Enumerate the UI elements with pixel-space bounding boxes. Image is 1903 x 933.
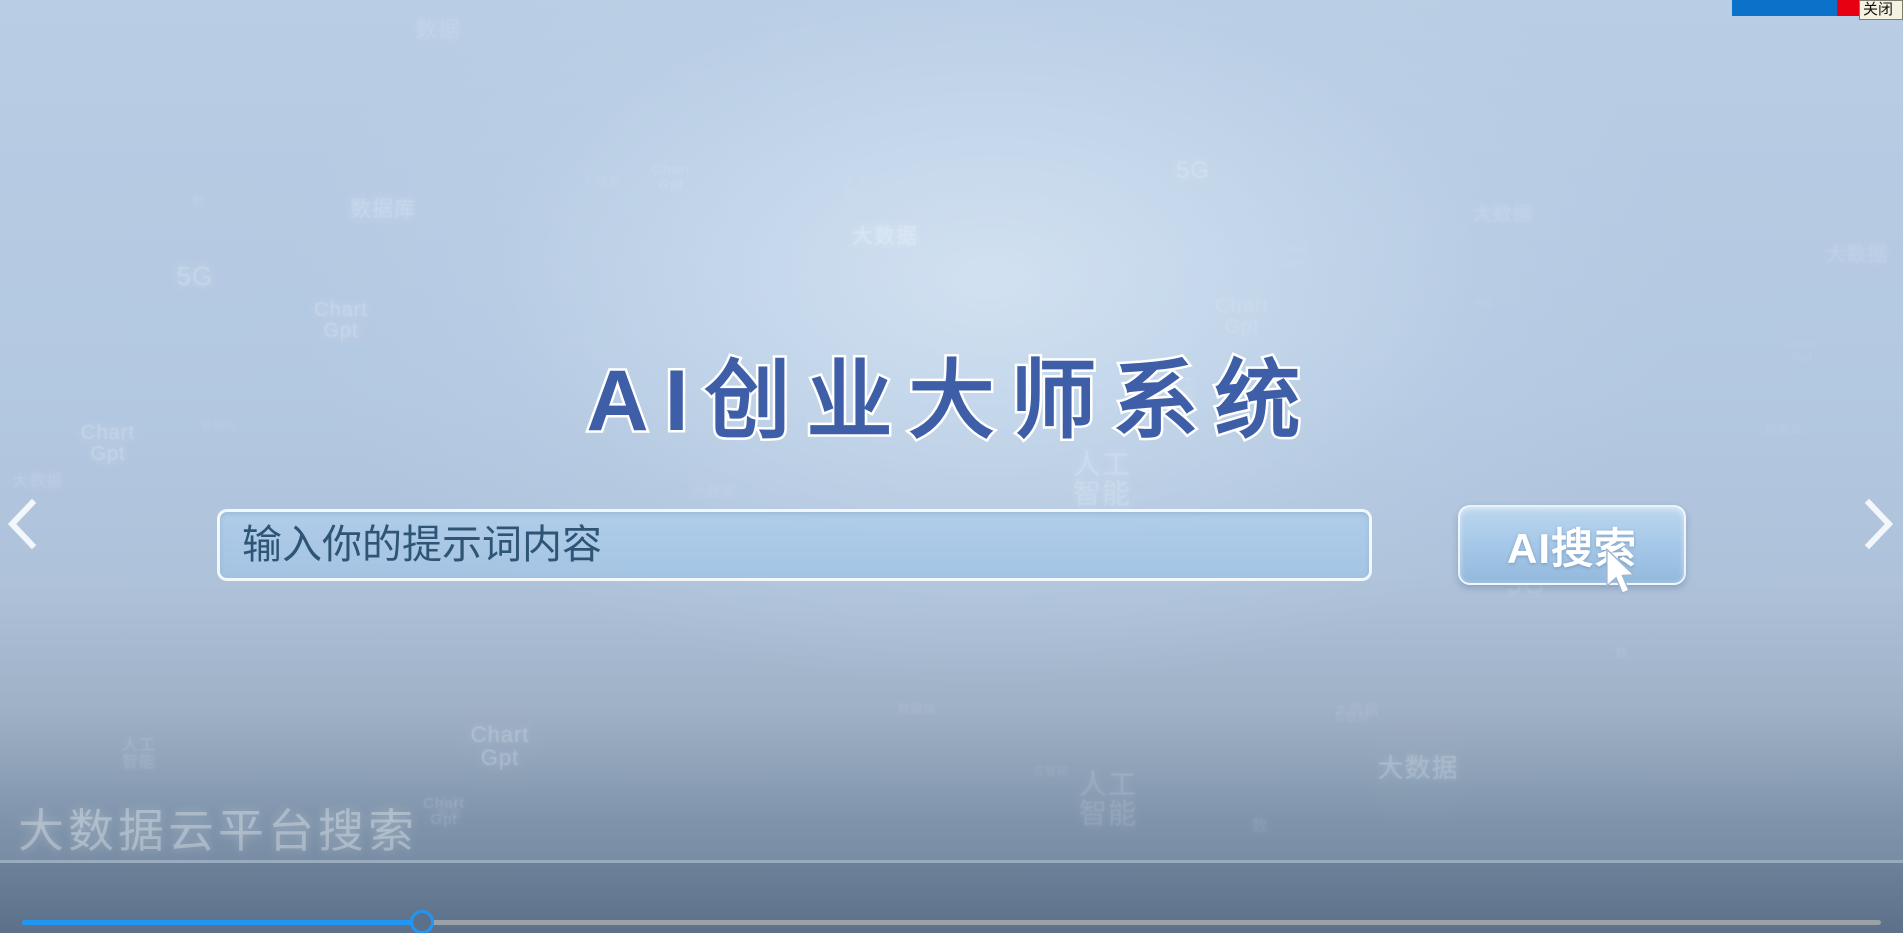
hex-badge: 数: [176, 180, 222, 224]
app-root: 数据库大数据ChartGpt人工智能大数据5G大数据数5GChartGpt5GC…: [0, 0, 1903, 933]
hex-badge-label: 人工: [844, 175, 870, 188]
hex-badge: 互联网: [1020, 744, 1082, 802]
hex-badge-label: 互联网: [1334, 713, 1370, 725]
hex-badge: 5G: [1190, 212, 1242, 262]
ai-search-button[interactable]: AI搜索: [1458, 505, 1686, 585]
hex-badge: 数据库: [318, 150, 448, 270]
hex-badge: 人工智能: [1046, 740, 1170, 858]
hex-badge-label: 大数据: [1826, 245, 1889, 266]
hex-badge: 大数据: [1320, 674, 1394, 744]
hex-badge: 数: [1598, 630, 1646, 676]
hex-badge-label: 大数据: [852, 226, 918, 248]
topbar-widgets: 关闭: [1732, 0, 1903, 20]
hex-badge-label: 人工: [438, 797, 462, 809]
hex-badge: 人工智能: [100, 718, 178, 792]
hex-badge: 大数据: [1455, 170, 1551, 260]
hex-badge-label: 人工: [122, 738, 156, 755]
hex-badge-label: 互联网: [1033, 767, 1069, 779]
hex-badge-label: 智能: [1079, 799, 1137, 828]
red-accent-square[interactable]: [1837, 0, 1859, 16]
hex-badge-label: 大数据: [12, 474, 63, 491]
hex-badge: 人工智能: [826, 158, 888, 218]
hex-badge: 大数据: [1812, 212, 1902, 298]
hex-badge-label: 大数据: [1335, 702, 1380, 717]
hex-badge-label: 大数据: [1377, 755, 1458, 782]
hex-badge-label: 数据库: [897, 703, 936, 716]
hex-badge-label: Gpt: [430, 812, 457, 828]
hex-badge-label: Chart: [471, 723, 530, 746]
hex-badge-label: 数据: [415, 18, 461, 41]
hex-badge-label: Gpt: [658, 177, 684, 192]
hex-badge-label: 数: [1251, 819, 1268, 836]
hex-badge: ChatGpt: [1264, 228, 1322, 284]
hex-badge: 互联网: [1324, 692, 1380, 746]
hex-badge-label: 智能: [1073, 479, 1131, 508]
hex-badge-label: 5G: [1206, 230, 1225, 244]
background-hex-decorations: 数据库大数据ChartGpt人工智能大数据5G大数据数5GChartGpt5GC…: [0, 0, 1903, 933]
carousel-next-icon[interactable]: [1855, 495, 1899, 553]
hex-badge-label: 数: [192, 195, 206, 209]
prompt-input[interactable]: [217, 509, 1372, 581]
hex-badge-label: 人工: [1079, 770, 1137, 799]
hex-badge: 大数据: [830, 186, 940, 288]
hex-badge: ChartGpt: [408, 778, 480, 846]
hex-badge-label: 数: [1615, 647, 1628, 660]
hex-badge-label: Chat: [1278, 243, 1307, 256]
close-tooltip: 关闭: [1859, 0, 1903, 20]
hex-badge-label: Gpt: [1282, 256, 1304, 269]
hex-badge: 人工智能: [420, 780, 480, 838]
hex-badge: 大数据: [566, 148, 638, 214]
hex-badge-label: 5G: [1475, 297, 1493, 310]
hex-badge-label: 智能: [844, 188, 870, 201]
watermark-text: 大数据云平台搜索: [18, 795, 418, 861]
hex-badge-label: 大数据: [692, 485, 737, 500]
progress-handle[interactable]: [410, 910, 434, 933]
search-row: AI搜索: [0, 505, 1903, 585]
hex-badge: 5G: [1150, 130, 1236, 212]
hex-badge-label: 数据库: [350, 199, 416, 221]
hex-badge: 5G: [152, 236, 238, 318]
hex-badge-label: 5G: [177, 263, 214, 290]
hex-badge-label: 5G: [1176, 158, 1210, 183]
hex-badge-label: Gpt: [481, 746, 519, 769]
hex-badge: ChartGpt: [452, 700, 548, 792]
hex-badge: 5G: [1460, 280, 1508, 326]
blue-accent-bar: [1732, 0, 1837, 16]
hex-badge: 数据: [390, 0, 486, 60]
hex-badge-label: 大数据: [1473, 205, 1533, 225]
hex-badge-label: 智能: [438, 809, 462, 821]
hex-badge: 数: [1232, 800, 1288, 854]
progress-fill: [22, 920, 422, 925]
hex-badge-label: 大数据: [582, 175, 621, 188]
hex-badge-label: 智能: [122, 755, 156, 772]
carousel-prev-icon[interactable]: [2, 495, 46, 553]
hex-badge: 数据库: [884, 678, 950, 740]
hex-badge-label: Chart: [314, 300, 368, 321]
hex-badge: ChartGpt: [632, 140, 710, 214]
hex-badge-label: Chart: [651, 162, 690, 177]
hex-badge-label: Chart: [1215, 296, 1269, 317]
hex-badge-label: Chart: [423, 796, 465, 812]
hex-badge: 大数据: [1358, 712, 1478, 826]
progress-slider[interactable]: [22, 918, 1881, 926]
page-title: AI创业大师系统: [0, 330, 1903, 455]
